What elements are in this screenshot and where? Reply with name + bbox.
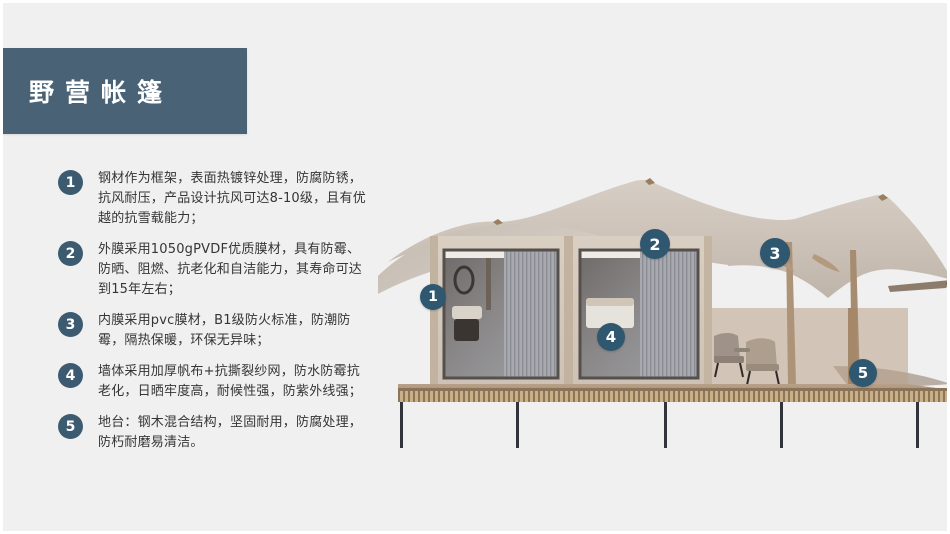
tent-illustration: 云游营居 YUNYOU YINGJU bbox=[378, 158, 950, 448]
deck-edge-shadow bbox=[398, 388, 950, 391]
bullet-number-2: 2 bbox=[58, 241, 83, 266]
curtain-center bbox=[640, 250, 698, 378]
list-item: 2 外膜采用1050gPVDF优质膜材，具有防霉、防晒、阻燃、抗老化和自洁能力，… bbox=[58, 240, 373, 300]
callout-marker-5[interactable]: 5 bbox=[849, 359, 877, 387]
bullet-number-4: 4 bbox=[58, 363, 83, 388]
bathroom-sink bbox=[452, 306, 482, 319]
deck-leg-3 bbox=[664, 402, 667, 448]
roof-guyline-anchor bbox=[888, 280, 950, 292]
feature-text-5: 地台：钢木混合结构，坚固耐用，防腐处理，防朽耐磨易清洁。 bbox=[98, 413, 373, 453]
callout-marker-2[interactable]: 2 bbox=[640, 229, 670, 259]
watermark-subtext: YUNYOU YINGJU bbox=[943, 449, 950, 456]
deck-leg-1 bbox=[400, 402, 403, 448]
page-title: 野营帐篷 bbox=[29, 73, 173, 109]
bullet-number-5: 5 bbox=[58, 414, 83, 439]
bathroom-shower-column bbox=[486, 258, 491, 310]
deck-leg-4 bbox=[780, 402, 783, 448]
deck-leg-2 bbox=[516, 402, 519, 448]
curtain-left bbox=[504, 250, 558, 378]
feature-list: 1 钢材作为框架，表面热镀锌处理，防腐防锈，抗风耐压，产品设计抗风可达8-10级… bbox=[58, 169, 373, 464]
feature-text-4: 墙体采用加厚帆布+抗撕裂纱网，防水防霉抗老化，日晒牢度高，耐候性强，防紫外线强； bbox=[98, 362, 373, 402]
bed-pillow bbox=[586, 298, 634, 306]
bullet-number-1: 1 bbox=[58, 170, 83, 195]
callout-marker-4[interactable]: 4 bbox=[597, 323, 625, 351]
callout-marker-1[interactable]: 1 bbox=[420, 284, 446, 310]
list-item: 3 内膜采用pvc膜材，B1级防火标准，防潮防霉，隔热保暖，环保无异味； bbox=[58, 311, 373, 351]
tent-photo-graphic bbox=[378, 158, 950, 448]
side-table bbox=[734, 348, 750, 352]
list-item: 1 钢材作为框架，表面热镀锌处理，防腐防锈，抗风耐压，产品设计抗风可达8-10级… bbox=[58, 169, 373, 229]
title-banner: 野营帐篷 bbox=[3, 48, 247, 134]
feature-text-2: 外膜采用1050gPVDF优质膜材，具有防霉、防晒、阻燃、抗老化和自洁能力，其寿… bbox=[98, 240, 373, 300]
list-item: 4 墙体采用加厚帆布+抗撕裂纱网，防水防霉抗老化，日晒牢度高，耐候性强，防紫外线… bbox=[58, 362, 373, 402]
deck-leg-5 bbox=[916, 402, 919, 448]
feature-text-3: 内膜采用pvc膜材，B1级防火标准，防潮防霉，隔热保暖，环保无异味； bbox=[98, 311, 373, 351]
feature-text-1: 钢材作为框架，表面热镀锌处理，防腐防锈，抗风耐压，产品设计抗风可达8-10级，且… bbox=[98, 169, 373, 229]
wall-post-right bbox=[704, 236, 712, 388]
callout-marker-3[interactable]: 3 bbox=[760, 238, 790, 268]
slide-canvas: 野营帐篷 1 钢材作为框架，表面热镀锌处理，防腐防锈，抗风耐压，产品设计抗风可达… bbox=[0, 0, 950, 534]
bathroom-vanity bbox=[454, 319, 479, 341]
wall-post-center bbox=[564, 236, 573, 388]
bullet-number-3: 3 bbox=[58, 312, 83, 337]
wall-post-left bbox=[430, 236, 438, 388]
list-item: 5 地台：钢木混合结构，坚固耐用，防腐处理，防朽耐磨易清洁。 bbox=[58, 413, 373, 453]
deck-fascia-stripes bbox=[398, 390, 950, 402]
